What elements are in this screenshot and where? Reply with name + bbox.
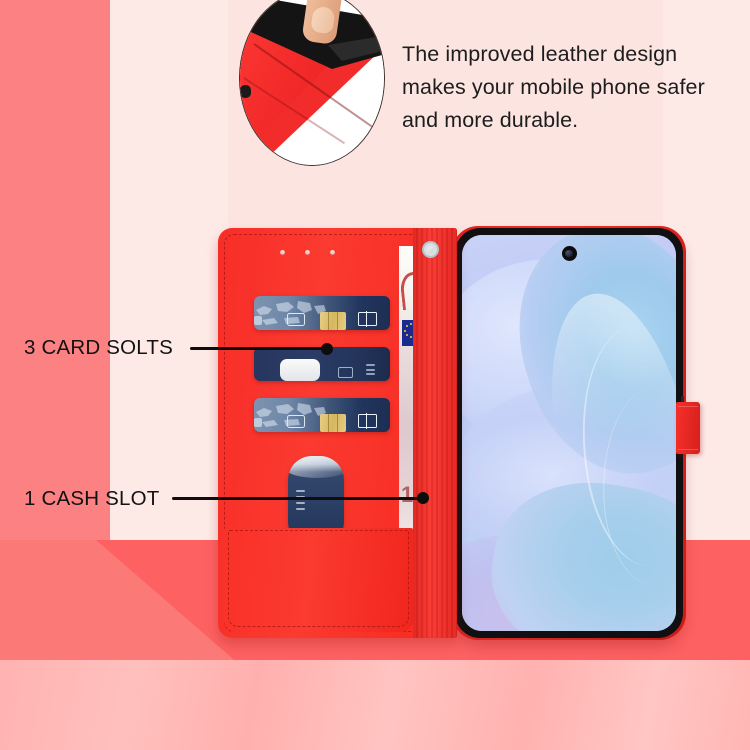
background-pale-panel: [110, 0, 228, 560]
card-rect-icon: [287, 415, 305, 428]
headline-text: The improved leather design makes your m…: [402, 38, 742, 137]
card-small-rect-icon: [338, 367, 353, 378]
phone-screen: [462, 235, 676, 631]
callout-leader-line-card-slots: [190, 347, 327, 350]
background-bottom-gradient-band: [0, 660, 750, 750]
card-chip-icon: [320, 312, 346, 330]
card-slot-card-1: [254, 296, 390, 330]
inset-side-button: [240, 85, 251, 98]
card-window-icon: [358, 312, 377, 326]
card-rect-icon: [287, 313, 305, 326]
pocket-stitching: [228, 530, 409, 627]
wallet-case-flap: EURO BANKNOTE EKT EBP 10 10: [218, 228, 457, 638]
card-left-marker: [254, 418, 262, 427]
callout-label-cash-slot: 1 CASH SLOT: [24, 487, 160, 511]
cash-slot-pocket-front: [224, 528, 413, 632]
callout-leader-line-cash-slot: [172, 497, 422, 500]
card-lines-icon: [366, 364, 375, 377]
front-camera-icon: [562, 246, 577, 261]
background-coral-left-strip: [0, 0, 110, 560]
detail-closeup-circle: [239, 0, 385, 166]
callout-leader-dot-cash-slot: [417, 492, 429, 504]
callout-label-card-slots: 3 CARD SOLTS: [24, 336, 173, 360]
card-chip-icon: [320, 414, 346, 432]
card-slot-card-3: [254, 398, 390, 432]
wallet-spine: [413, 228, 457, 638]
camera-eyelet-icon: [422, 241, 439, 258]
magnetic-closure-strap: [676, 402, 700, 454]
flap-perforation-dots: [280, 250, 342, 256]
product-image-canvas: The improved leather design makes your m…: [0, 0, 750, 750]
card-white-panel: [280, 359, 320, 381]
card-left-marker: [254, 316, 262, 325]
spine-shading: [413, 228, 457, 638]
cash-card-stripe-icon: [296, 490, 305, 516]
card-window-icon: [358, 414, 377, 428]
phone-device: [455, 228, 683, 638]
callout-leader-dot-card-slots: [321, 343, 333, 355]
cash-card-sheen: [288, 456, 344, 478]
